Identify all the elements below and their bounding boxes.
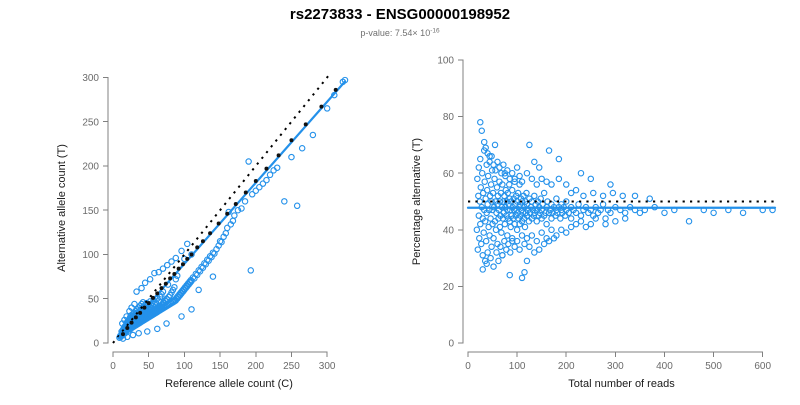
x-tick-label: 600 — [754, 361, 771, 372]
dark-data-point — [138, 311, 142, 315]
dark-data-point — [155, 291, 159, 295]
dark-data-point — [121, 332, 125, 336]
x-tick-label: 50 — [143, 361, 155, 372]
dark-data-point — [168, 276, 172, 280]
x-tick-label: 500 — [705, 361, 722, 372]
dark-data-point — [177, 267, 181, 271]
x-tick-label: 300 — [607, 361, 624, 372]
dark-data-point — [319, 105, 323, 109]
y-tick-label: 300 — [82, 73, 99, 84]
dark-data-point — [289, 138, 293, 142]
x-tick-label: 300 — [319, 361, 336, 372]
dark-data-point — [190, 252, 194, 256]
dark-data-point — [172, 272, 176, 276]
dark-data-point — [185, 257, 189, 261]
dark-data-point — [147, 301, 151, 305]
plot-svg: rs2273833 - ENSG00000198952 p-value: 7.5… — [0, 0, 800, 400]
y-tick-label: 20 — [443, 282, 455, 293]
y-tick-label: 60 — [443, 169, 455, 180]
dark-data-point — [142, 306, 146, 310]
x-tick-label: 400 — [656, 361, 673, 372]
dark-data-point — [244, 191, 248, 195]
x-tick-label: 250 — [283, 361, 300, 372]
x-tick-label: 0 — [110, 361, 116, 372]
dark-data-point — [195, 245, 199, 249]
dark-data-point — [130, 321, 134, 325]
y-axis-title: Alternative allele count (T) — [56, 144, 68, 272]
y-tick-label: 150 — [82, 206, 99, 217]
y-tick-label: 50 — [88, 294, 100, 305]
x-tick-label: 100 — [176, 361, 193, 372]
page-title: rs2273833 - ENSG00000198952 — [290, 6, 510, 23]
dark-data-point — [201, 239, 205, 243]
dark-data-point — [277, 153, 281, 157]
dark-data-point — [334, 88, 338, 92]
dark-data-point — [254, 179, 258, 183]
dark-data-point — [151, 296, 155, 300]
y-tick-label: 250 — [82, 117, 99, 128]
dark-data-point — [208, 231, 212, 235]
y-tick-label: 100 — [82, 250, 99, 261]
x-axis-title: Total number of reads — [568, 378, 675, 390]
dark-data-point — [234, 202, 238, 206]
y-tick-label: 0 — [93, 339, 99, 350]
x-tick-label: 100 — [509, 361, 526, 372]
p-value-subtitle: p-value: 7.54× 10-16 — [360, 28, 440, 39]
dark-data-point — [164, 282, 168, 286]
y-tick-label: 40 — [443, 225, 455, 236]
x-tick-label: 200 — [558, 361, 575, 372]
x-tick-label: 150 — [212, 361, 229, 372]
y-tick-label: 80 — [443, 112, 455, 123]
figure-container: rs2273833 - ENSG00000198952 p-value: 7.5… — [0, 0, 800, 400]
dark-data-point — [134, 315, 138, 319]
y-tick-label: 200 — [82, 162, 99, 173]
p-value-exponent: -16 — [430, 28, 440, 35]
dark-data-point — [225, 212, 229, 216]
x-axis-title: Reference allele count (C) — [165, 378, 293, 390]
y-tick-label: 0 — [448, 339, 454, 350]
x-tick-label: 200 — [247, 361, 264, 372]
y-tick-label: 100 — [437, 56, 454, 67]
p-value-text: p-value: 7.54× 10 — [360, 28, 430, 38]
dark-data-point — [304, 122, 308, 126]
dark-data-point — [264, 167, 268, 171]
x-tick-label: 0 — [465, 361, 471, 372]
dark-data-point — [125, 326, 129, 330]
dark-data-point — [160, 286, 164, 290]
dark-data-point — [181, 262, 185, 266]
dark-data-point — [217, 221, 221, 225]
y-axis-title: Percentage alternative (T) — [411, 138, 423, 265]
